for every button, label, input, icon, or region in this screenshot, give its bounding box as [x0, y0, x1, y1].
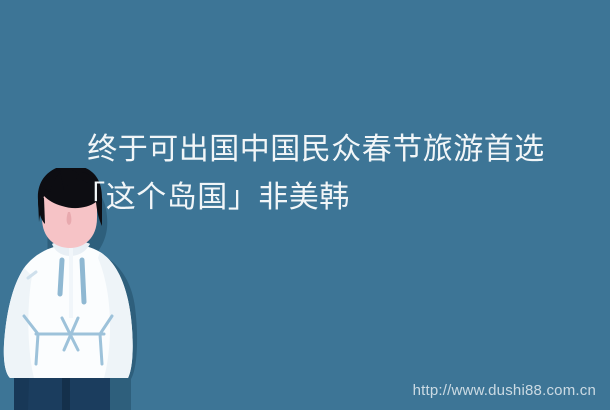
image-canvas: 终于可出国中国民众春节旅游首选 「这个岛国」非美韩 http://www.dus…: [0, 0, 610, 410]
headline-line-2: 「这个岛国」非美韩: [0, 174, 610, 222]
headline-line-1: 终于可出国中国民众春节旅游首选: [0, 126, 610, 174]
hoodie-group: [4, 241, 133, 378]
headline: 终于可出国中国民众春节旅游首选 「这个岛国」非美韩: [0, 126, 610, 222]
watermark-url: http://www.dushi88.com.cn: [413, 382, 596, 399]
